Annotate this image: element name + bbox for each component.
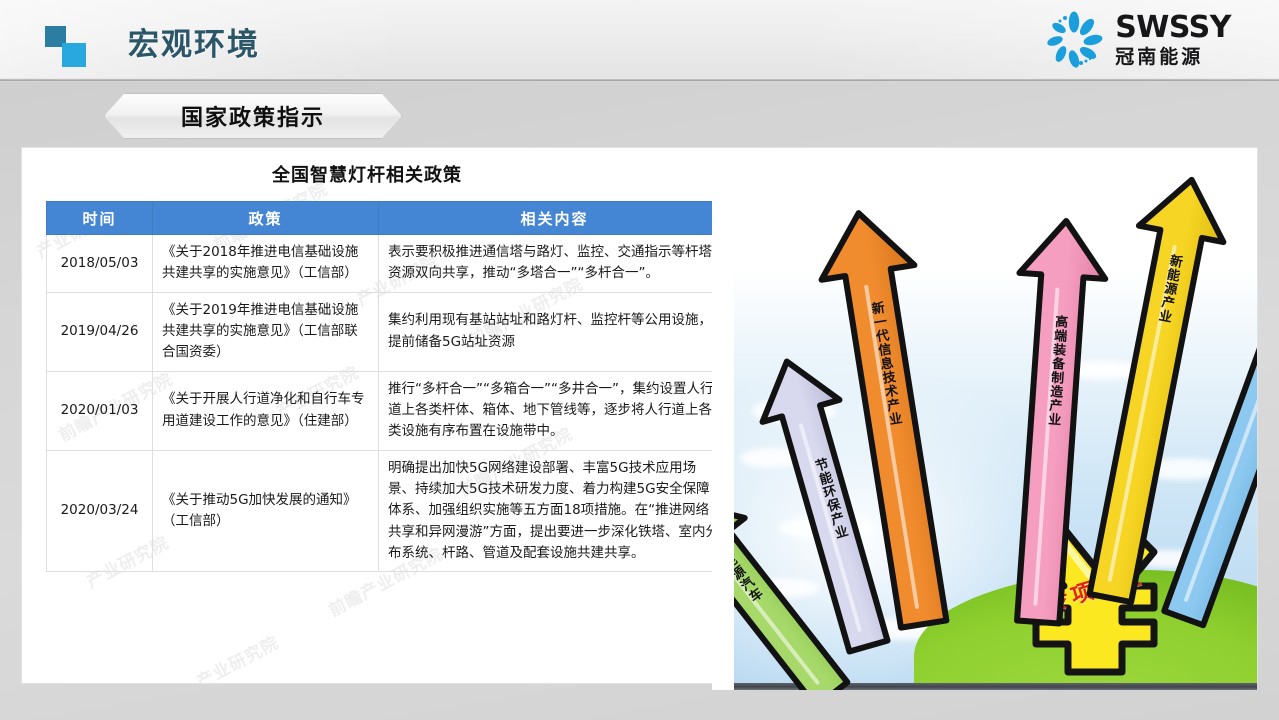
table-row: 2019/04/26《关于2019年推进电信基础设施共建共享的实施意见》（工信部… [47,292,731,371]
table-header-row: 时间 政策 相关内容 [47,202,731,235]
cell-policy: 《关于2018年推进电信基础设施共建共享的实施意见》（工信部） [153,235,379,293]
cell-time: 2020/03/24 [47,450,153,572]
section-banner: 国家政策指示 [104,93,402,139]
cell-time: 2019/04/26 [47,292,153,371]
brand-name-en: SWSSY [1115,13,1231,43]
cell-time: 2020/01/03 [47,371,153,450]
brand-text: SWSSY 冠南能源 [1115,13,1231,67]
column-header-content: 相关内容 [379,202,731,235]
table-title: 全国智慧灯杆相关政策 [22,161,712,187]
section-banner-label: 国家政策指示 [181,100,325,132]
cell-policy: 《关于推动5G加快发展的通知》（工信部） [153,450,379,572]
illustration-canvas: 节能环保产业新一代信息技术产业高端装备制造产业新能源产业生物产业新能源汽车新材料… [734,148,1257,690]
brand-logo: SWSSY 冠南能源 [1043,8,1231,72]
brand-name-cn: 冠南能源 [1115,48,1203,67]
table-head: 时间 政策 相关内容 [47,202,731,235]
table-row: 2018/05/03《关于2018年推进电信基础设施共建共享的实施意见》（工信部… [47,235,731,293]
special-funds-arrows-illustration: 节能环保产业新一代信息技术产业高端装备制造产业新能源产业生物产业新能源汽车新材料… [712,148,1257,690]
cell-content: 集约利用现有基站站址和路灯杆、监控杆等公用设施，提前储备5G站址资源 [379,292,731,371]
water-droplet-flower-icon [1043,9,1105,71]
cell-content: 明确提出加快5G网络建设部署、丰富5G技术应用场景、持续加大5G技术研发力度、着… [379,450,731,572]
header-divider [0,78,1279,82]
page-title: 宏观环境 [128,19,260,64]
cell-time: 2018/05/03 [47,235,153,293]
cell-policy: 《关于开展人行道净化和自行车专用道建设工作的意见》（住建部） [153,371,379,450]
slide-header: 宏观环境 [0,0,1279,82]
table-row: 2020/03/24《关于推动5G加快发展的通知》（工信部）明确提出加快5G网络… [47,450,731,572]
column-header-time: 时间 [47,202,153,235]
table-row: 2020/01/03《关于开展人行道净化和自行车专用道建设工作的意见》（住建部）… [47,371,731,450]
two-squares-icon [45,26,97,68]
table-body: 2018/05/03《关于2018年推进电信基础设施共建共享的实施意见》（工信部… [47,235,731,572]
cell-content: 表示要积极推进通信塔与路灯、监控、交通指示等杆塔资源双向共享，推动“多塔合一”“… [379,235,731,293]
slide-root: 宏观环境 [0,0,1279,720]
watermark-text: 产业研究院 [191,628,282,683]
column-header-policy: 政策 [153,202,379,235]
content-card: 产业研究院前瞻产业研究院产业研究院前瞻产业研究院产业研究院前瞻产业研究院产业研究… [22,148,1257,683]
policy-table: 时间 政策 相关内容 2018/05/03《关于2018年推进电信基础设施共建共… [46,201,731,572]
cell-content: 推行“多杆合一”“多箱合一”“多井合一”，集约设置人行道上各类杆体、箱体、地下管… [379,371,731,450]
square-light [62,43,86,67]
cell-policy: 《关于2019年推进电信基础设施共建共享的实施意见》（工信部联合国资委） [153,292,379,371]
